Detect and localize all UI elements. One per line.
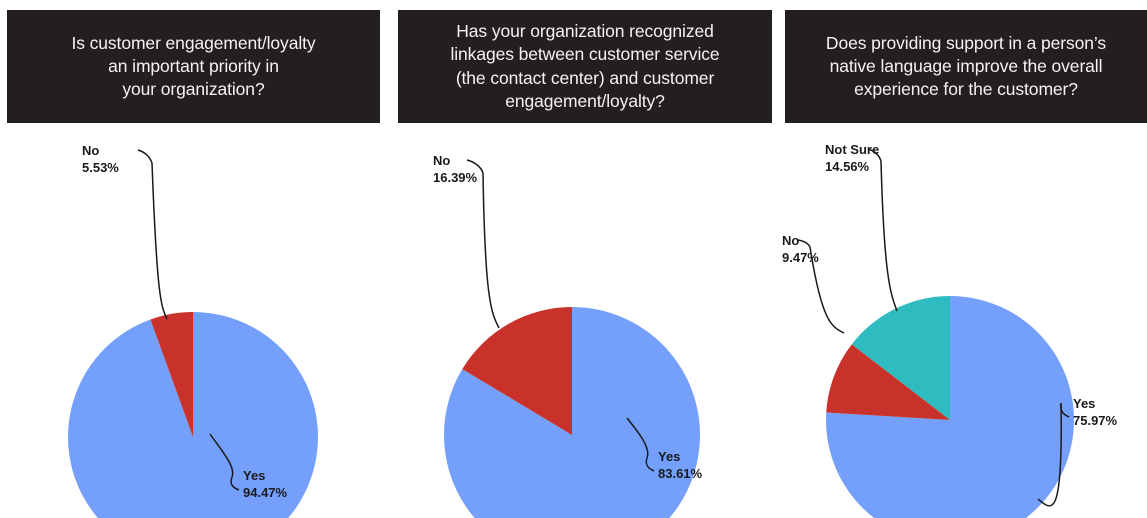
pie-label-no-name-2: No — [433, 153, 450, 168]
pie-label-not-sure-name-3: Not Sure — [825, 142, 879, 157]
question-box-3: Does providing support in a person’s nat… — [785, 10, 1147, 123]
pie-label-no-name-1: No — [82, 143, 99, 158]
pie-label-yes-value-1: 94.47% — [243, 485, 288, 500]
pie-label-yes-name-1: Yes — [243, 468, 265, 483]
pie-label-yes-name-3: Yes — [1073, 396, 1095, 411]
leader-line-no-1b — [138, 150, 152, 163]
question-box-1: Is customer engagement/loyalty an import… — [7, 10, 380, 123]
pie-label-yes-value-3: 75.97% — [1073, 413, 1118, 428]
question-box-2: Has your organization recognized linkage… — [398, 10, 772, 123]
pie-label-not-sure-value-3: 14.56% — [825, 159, 870, 174]
leader-line-no-2 — [483, 173, 499, 328]
pie-label-no-value-2: 16.39% — [433, 170, 478, 185]
pie-label-yes-value-2: 83.61% — [658, 466, 703, 481]
pie-label-no-value-1: 5.53% — [82, 160, 119, 175]
pie-slice-yes-2[interactable] — [444, 307, 700, 518]
question-header-row: Is customer engagement/loyalty an import… — [0, 0, 1147, 133]
pie-charts-area: No 5.53% Yes 94.47% No 16.39% Yes 83.61% — [0, 133, 1147, 518]
leader-line-no-1 — [152, 163, 167, 319]
question-text-1: Is customer engagement/loyalty an import… — [71, 32, 315, 102]
leader-line-not-sure-3 — [881, 161, 897, 311]
pie-label-no-value-3: 9.47% — [782, 250, 819, 265]
question-text-2: Has your organization recognized linkage… — [450, 20, 719, 113]
pie-label-yes-name-2: Yes — [658, 449, 680, 464]
pie-chart-1: No 5.53% Yes 94.47% — [0, 133, 395, 518]
question-text-3: Does providing support in a person’s nat… — [826, 32, 1106, 102]
pie-chart-2: No 16.39% Yes 83.61% — [395, 133, 780, 518]
pie-chart-3: Not Sure 14.56% No 9.47% Yes 75.97% — [780, 133, 1147, 518]
pie-label-no-name-3: No — [782, 233, 799, 248]
leader-line-no-3b — [798, 240, 810, 247]
